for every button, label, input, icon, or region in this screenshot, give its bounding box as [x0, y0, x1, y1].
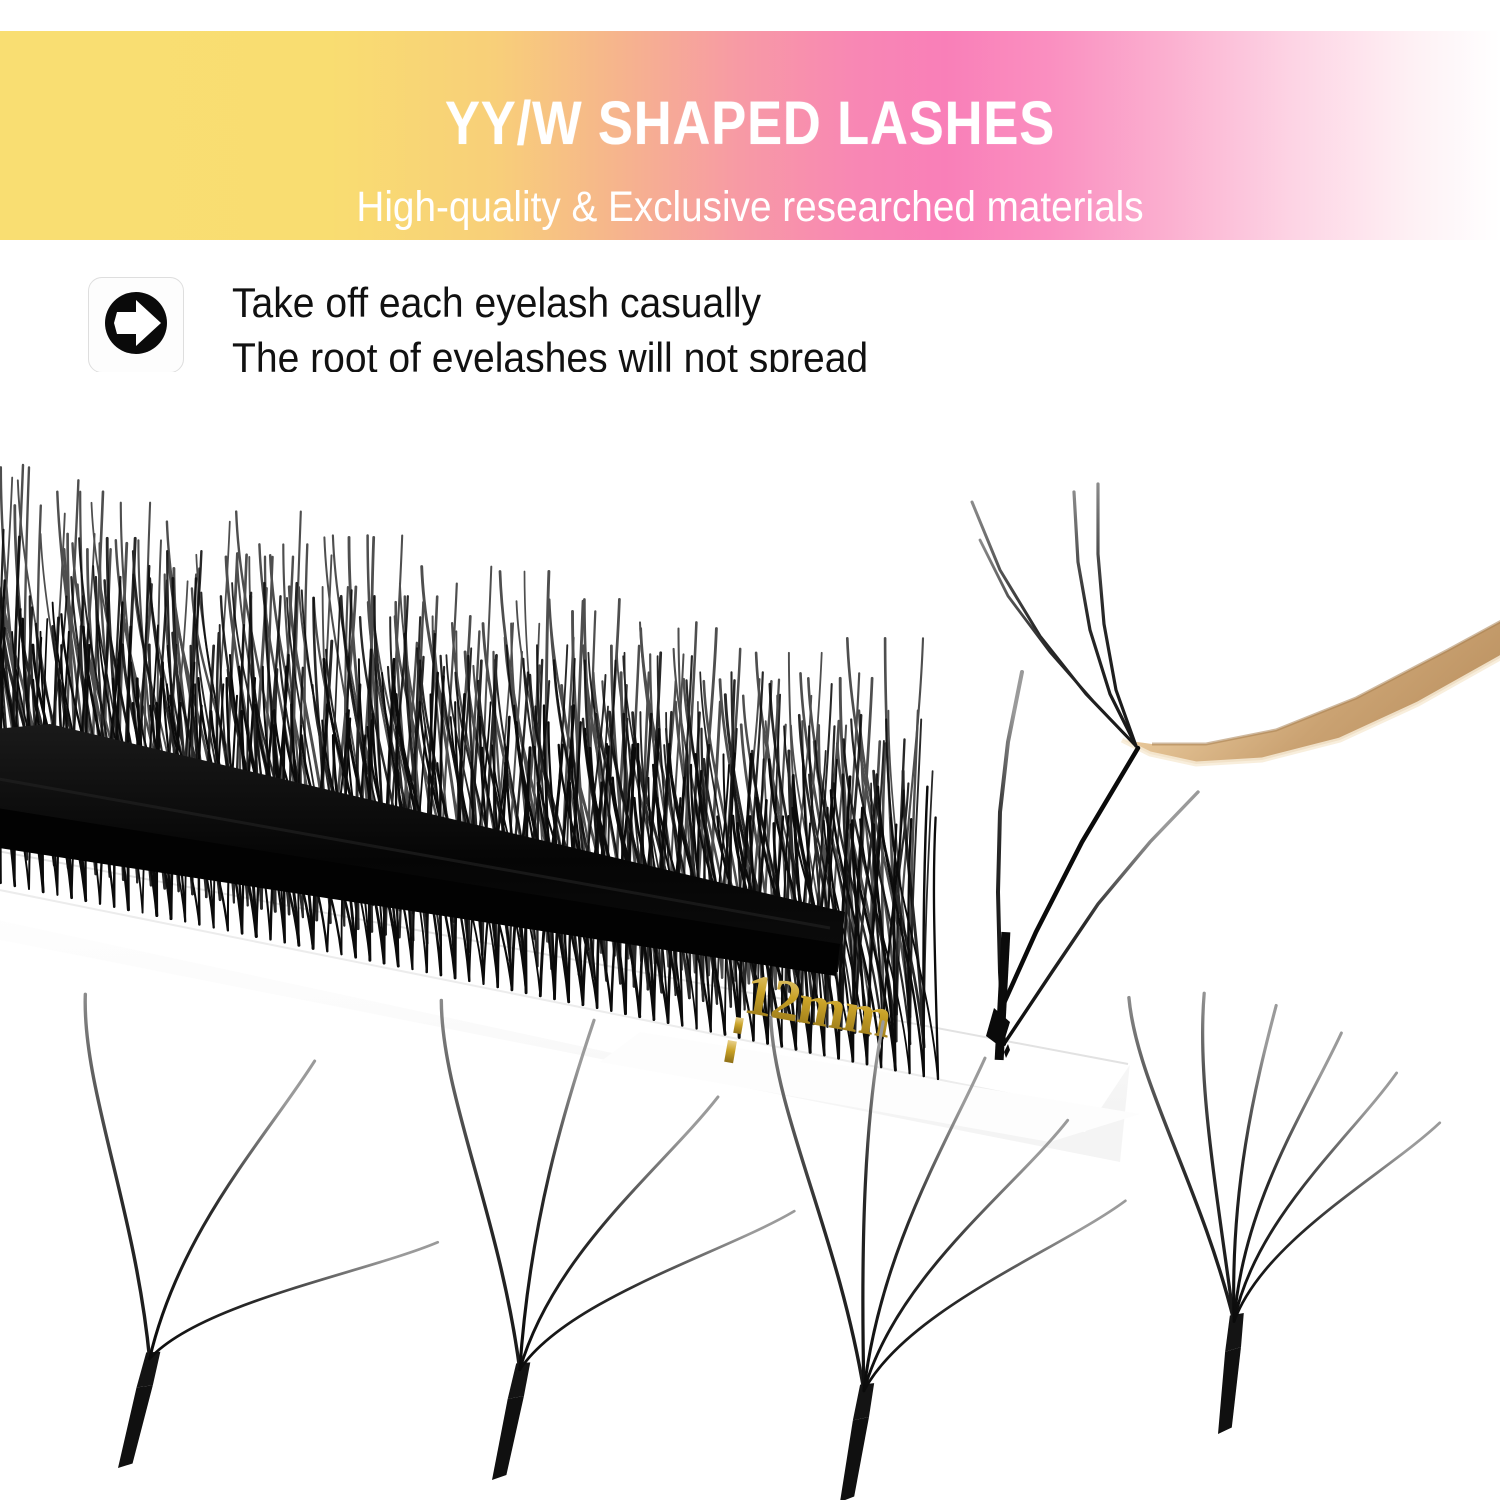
instruction-text: Take off each eyelash casually The root …	[232, 277, 916, 381]
product-photo: 12mm	[0, 372, 1500, 1500]
product-infographic: YY/W SHAPED LASHES High-quality & Exclus…	[0, 0, 1500, 1500]
arrow-right-circle-icon	[100, 287, 172, 364]
page-title: YY/W SHAPED LASHES	[105, 93, 1395, 154]
header-banner: YY/W SHAPED LASHES High-quality & Exclus…	[0, 31, 1500, 240]
instruction-row: Take off each eyelash casually The root …	[88, 277, 916, 381]
instruction-badge	[88, 277, 184, 373]
product-photo-illustration: 12mm	[0, 372, 1500, 1500]
instruction-line-1: Take off each eyelash casually	[232, 279, 868, 326]
page-subtitle: High-quality & Exclusive researched mate…	[75, 186, 1425, 229]
